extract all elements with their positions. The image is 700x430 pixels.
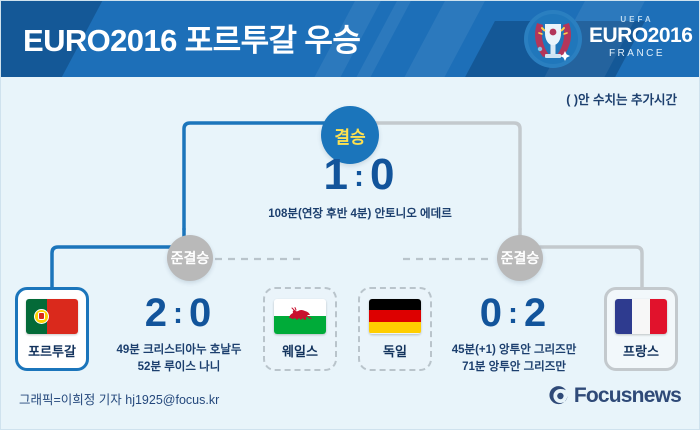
logo-euro-label: EURO2016 bbox=[589, 25, 685, 46]
focus-news-logo: Focusnews bbox=[548, 384, 681, 408]
final-match-result: 1:0 108분(연장 후반 4분) 안토니오 에데르 bbox=[235, 153, 485, 223]
team-card-portugal[interactable]: 포르투갈 bbox=[15, 287, 89, 371]
semifinal-left-scorer-1: 49분 크리스티아누 호날두 bbox=[97, 342, 261, 359]
semifinal-right-scorers: 45분(+1) 앙투안 그리즈만 71분 앙투안 그리즈만 bbox=[429, 342, 599, 375]
semifinal-right-score: 0:2 bbox=[429, 293, 599, 333]
team-name-germany: 독일 bbox=[383, 341, 407, 360]
semifinal-right-score-home: 0 bbox=[480, 291, 504, 335]
trophy-icon bbox=[523, 9, 583, 69]
team-card-germany[interactable]: 독일 bbox=[358, 287, 432, 371]
flag-wales-icon bbox=[274, 299, 326, 334]
team-name-portugal: 포르투갈 bbox=[28, 341, 76, 360]
semifinal-left-scorer-2: 52분 루이스 나니 bbox=[97, 359, 261, 376]
header-banner: EURO2016 포르투갈 우승 UEFA EURO2016 FRANCE bbox=[1, 1, 700, 77]
round-badge-semifinal-left: 준결승 bbox=[167, 235, 213, 281]
focus-swirl-icon bbox=[548, 385, 570, 407]
flag-portugal-icon bbox=[26, 299, 78, 334]
semifinal-right-score-separator: : bbox=[504, 297, 524, 330]
team-card-france[interactable]: 프랑스 bbox=[604, 287, 678, 371]
flag-france-icon bbox=[615, 299, 667, 334]
focus-news-wordmark: Focusnews bbox=[574, 384, 681, 408]
team-name-france: 프랑스 bbox=[623, 341, 659, 360]
euro2016-logo: UEFA EURO2016 FRANCE bbox=[517, 6, 687, 72]
semifinal-left-scorers: 49분 크리스티아누 호날두 52분 루이스 나니 bbox=[97, 342, 261, 375]
final-scorers: 108분(연장 후반 4분) 안토니오 에데르 bbox=[235, 206, 485, 223]
logo-country-label: FRANCE bbox=[589, 49, 685, 59]
final-score-separator: : bbox=[350, 160, 370, 193]
semifinal-right-scorer-1: 45분(+1) 앙투안 그리즈만 bbox=[429, 342, 599, 359]
semifinal-right-result: 0:2 45분(+1) 앙투안 그리즈만 71분 앙투안 그리즈만 bbox=[429, 293, 599, 375]
semifinal-left-score: 2:0 bbox=[97, 293, 261, 333]
semifinal-left-score-separator: : bbox=[169, 297, 189, 330]
page-title: EURO2016 포르투갈 우승 bbox=[23, 15, 360, 60]
connector-portugal-to-semi bbox=[52, 229, 184, 293]
infographic-root: EURO2016 포르투갈 우승 UEFA EURO2016 FRANCE bbox=[0, 0, 700, 430]
team-card-wales[interactable]: 웨일스 bbox=[263, 287, 337, 371]
final-score-home: 1 bbox=[324, 150, 350, 199]
logo-uefa-label: UEFA bbox=[589, 16, 685, 24]
graphic-credit: 그래픽=이희정 기자 hj1925@focus.kr bbox=[19, 389, 219, 408]
round-badge-semifinal-right-label: 준결승 bbox=[501, 248, 540, 268]
team-name-wales: 웨일스 bbox=[282, 341, 318, 360]
round-badge-final-label: 결승 bbox=[334, 123, 365, 148]
semifinal-right-score-away: 2 bbox=[524, 291, 548, 335]
semifinal-left-result: 2:0 49분 크리스티아누 호날두 52분 루이스 나니 bbox=[97, 293, 261, 375]
round-badge-semifinal-left-label: 준결승 bbox=[171, 248, 210, 268]
semifinal-left-score-away: 0 bbox=[189, 291, 213, 335]
semifinal-left-score-home: 2 bbox=[145, 291, 169, 335]
euro-logo-text: UEFA EURO2016 FRANCE bbox=[589, 16, 685, 59]
wales-dragon-icon bbox=[287, 307, 313, 324]
semifinal-right-scorer-2: 71분 앙투안 그리즈만 bbox=[429, 359, 599, 376]
round-badge-semifinal-right: 준결승 bbox=[497, 235, 543, 281]
final-score: 1:0 bbox=[235, 153, 485, 197]
flag-germany-icon bbox=[369, 299, 421, 334]
final-score-away: 0 bbox=[370, 150, 396, 199]
